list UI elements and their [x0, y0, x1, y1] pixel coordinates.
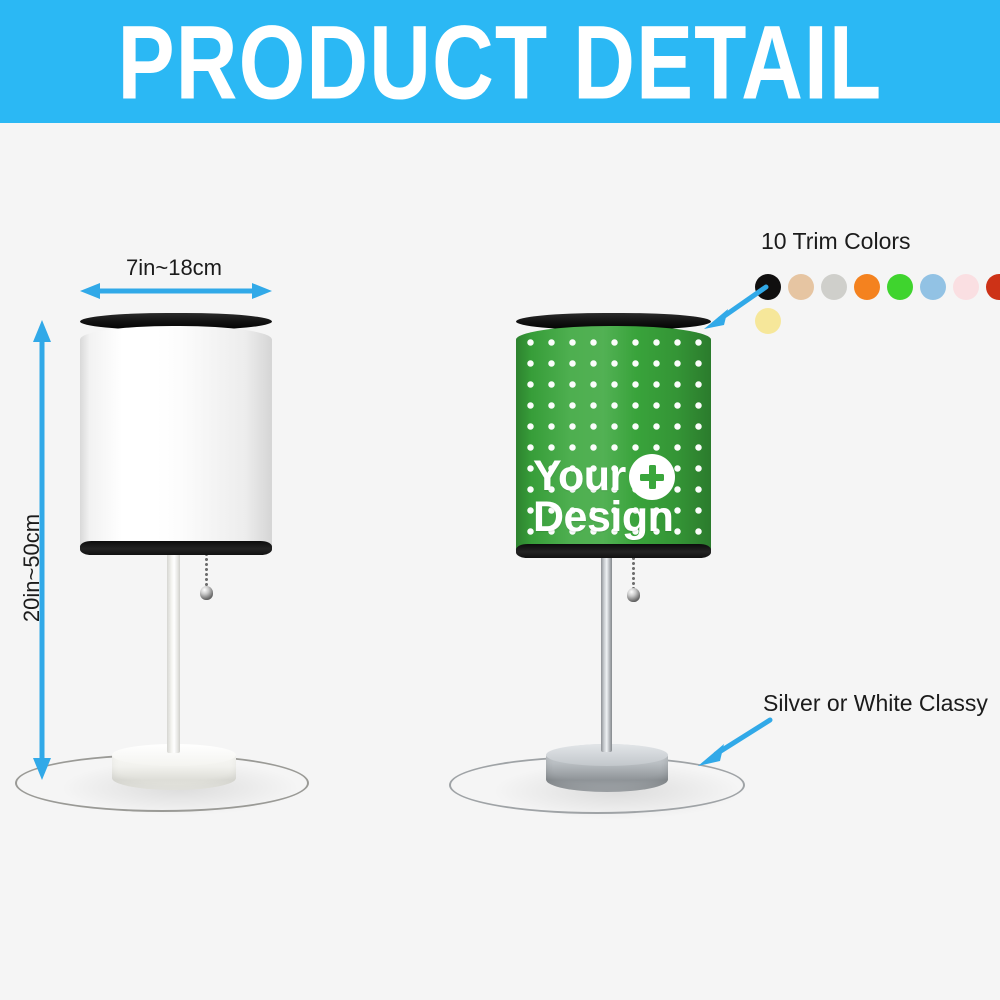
width-dimension-arrow [80, 281, 272, 301]
trim-swatch-light-blue[interactable] [920, 274, 946, 300]
trim-swatch-tan[interactable] [788, 274, 814, 300]
trim-colors-pointer-arrow [700, 283, 770, 331]
pull-chain-ball[interactable] [627, 588, 640, 602]
header-banner: PRODUCT DETAIL [0, 0, 1000, 123]
base-finish-caption: Silver or White Classy [763, 690, 988, 717]
design-line-1: Your [533, 456, 626, 497]
trim-color-swatches [755, 274, 1000, 342]
height-dimension-arrow [30, 320, 54, 780]
trim-swatch-orange[interactable] [854, 274, 880, 300]
trim-swatch-pink[interactable] [953, 274, 979, 300]
shade-design-text: Your Design [516, 456, 711, 539]
product-detail-page: PRODUCT DETAIL [0, 0, 1000, 1000]
base-pointer-arrow [694, 716, 774, 768]
plus-icon-vertical [649, 465, 656, 489]
lamp-pole [167, 553, 180, 753]
lamp-shade: Your Design [516, 313, 711, 558]
trim-swatch-red[interactable] [986, 274, 1000, 300]
trim-swatch-light-gray[interactable] [821, 274, 847, 300]
shade-surface: Your Design [516, 326, 711, 554]
pull-chain-ball[interactable] [200, 586, 213, 600]
lamp-pole [601, 556, 612, 752]
trim-swatch-row-1 [755, 274, 1000, 300]
page-title: PRODUCT DETAIL [118, 9, 883, 114]
width-dimension-label: 7in~18cm [126, 255, 222, 281]
trim-swatch-green[interactable] [887, 274, 913, 300]
shade-surface [80, 326, 272, 550]
lamp-shade [80, 313, 272, 555]
plus-icon [629, 454, 675, 500]
shade-trim-bottom [516, 544, 711, 558]
trim-colors-title: 10 Trim Colors [761, 228, 911, 255]
shade-trim-bottom [80, 541, 272, 555]
trim-swatch-row-2 [755, 308, 1000, 334]
design-line-2: Design [533, 497, 673, 538]
